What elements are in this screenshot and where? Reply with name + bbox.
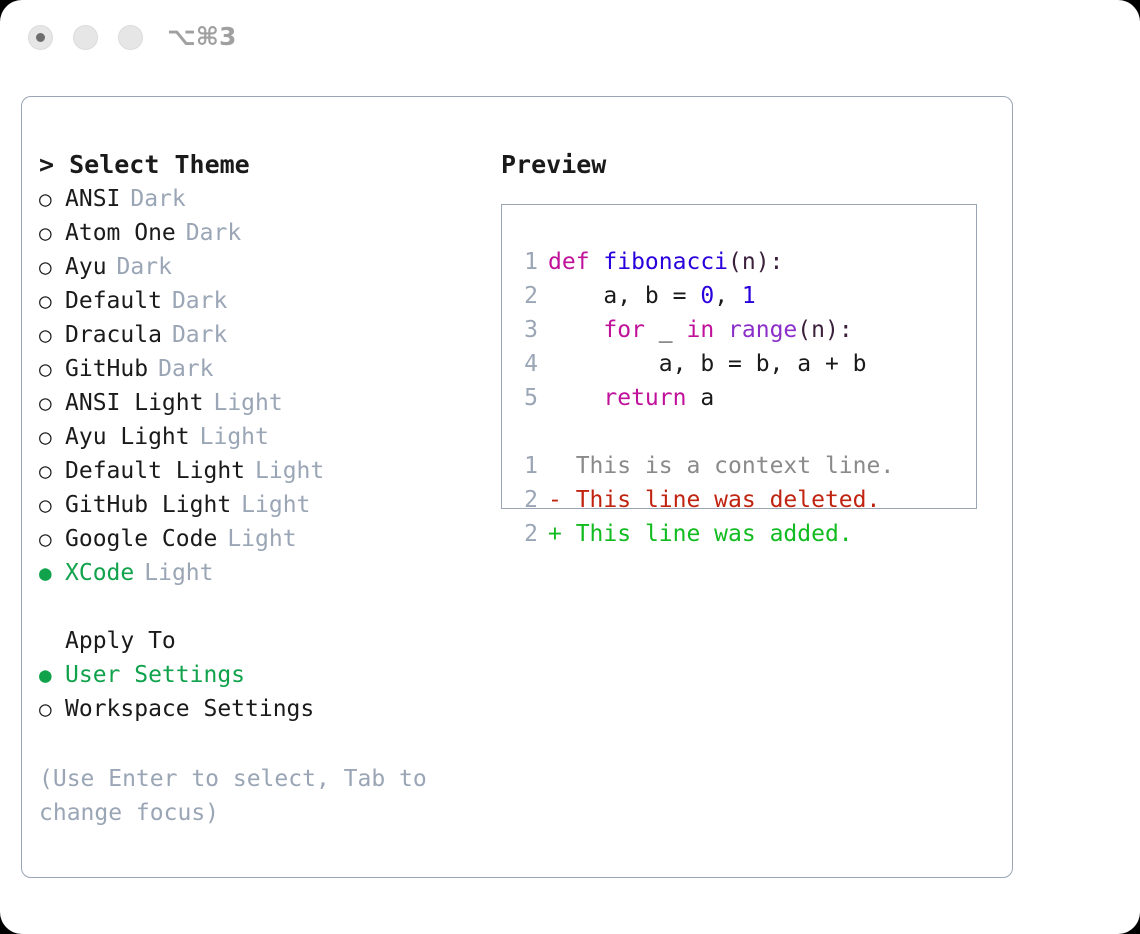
- theme-name: GitHub Light: [65, 488, 231, 522]
- code-token: fibonacci: [603, 249, 728, 275]
- code-token: def: [548, 249, 603, 275]
- theme-name: XCode: [65, 556, 134, 590]
- code-token: in: [686, 317, 714, 343]
- diff-line-text: This is a context line.: [562, 449, 894, 483]
- theme-list-item[interactable]: ○GitHubDark: [39, 352, 479, 386]
- diff-line: 2+ This line was added.: [502, 517, 976, 551]
- window-controls: [28, 25, 143, 50]
- window-dot-active-inner: [36, 33, 45, 42]
- apply-to-options: ●User Settings○Workspace Settings: [39, 658, 479, 726]
- code-diff-separator: [502, 415, 976, 449]
- radio-unselected-icon: ○: [39, 386, 65, 420]
- theme-category: Light: [227, 522, 296, 556]
- code-line: 1def fibonacci(n):: [502, 245, 976, 279]
- code-token: [548, 317, 603, 343]
- code-token: (n):: [728, 249, 783, 275]
- theme-name: Google Code: [65, 522, 217, 556]
- code-token: range: [728, 317, 797, 343]
- diff-sample: 1 This is a context line.2- This line wa…: [502, 449, 976, 551]
- theme-name: GitHub: [65, 352, 148, 386]
- theme-name: Default Light: [65, 454, 245, 488]
- apply-to-option[interactable]: ●User Settings: [39, 658, 479, 692]
- radio-unselected-icon: ○: [39, 216, 65, 250]
- theme-category: Dark: [172, 284, 227, 318]
- code-line: 2 a, b = 0, 1: [502, 279, 976, 313]
- code-sample: 1def fibonacci(n):2 a, b = 0, 13 for _ i…: [502, 245, 976, 415]
- apply-to-heading: Apply To: [39, 624, 479, 658]
- apply-to-option-label: Workspace Settings: [65, 692, 314, 726]
- code-line-number: 1: [502, 245, 548, 279]
- radio-unselected-icon: ○: [39, 318, 65, 352]
- code-line-content: a, b = 0, 1: [548, 279, 756, 313]
- code-token: [714, 317, 728, 343]
- preview-column: Preview 1def fibonacci(n):2 a, b = 0, 13…: [501, 148, 991, 509]
- code-line: 5 return a: [502, 381, 976, 415]
- radio-unselected-icon: ○: [39, 454, 65, 488]
- window-dot-second-icon[interactable]: [73, 25, 98, 50]
- theme-name: Atom One: [65, 216, 176, 250]
- radio-unselected-icon: ○: [39, 182, 65, 216]
- radio-selected-icon: ●: [39, 658, 65, 692]
- diff-sign: -: [548, 483, 562, 517]
- theme-list-item[interactable]: ○Default LightLight: [39, 454, 479, 488]
- keyboard-hint-text: (Use Enter to select, Tab to change focu…: [39, 762, 439, 830]
- theme-category: Dark: [130, 182, 185, 216]
- code-token: _: [645, 317, 687, 343]
- theme-name: ANSI: [65, 182, 120, 216]
- diff-line-number: 1: [502, 449, 548, 483]
- theme-picker-column: > Select Theme ○ANSIDark○Atom OneDark○Ay…: [39, 148, 479, 830]
- code-token: 0: [700, 283, 714, 309]
- window-dot-third-icon[interactable]: [118, 25, 143, 50]
- code-token: 1: [742, 283, 756, 309]
- theme-name: Ayu: [65, 250, 107, 284]
- panel-columns: > Select Theme ○ANSIDark○Atom OneDark○Ay…: [22, 97, 1012, 877]
- radio-unselected-icon: ○: [39, 488, 65, 522]
- theme-category: Dark: [186, 216, 241, 250]
- theme-category: Dark: [172, 318, 227, 352]
- theme-category: Light: [144, 556, 213, 590]
- diff-sign: [548, 449, 562, 483]
- radio-unselected-icon: ○: [39, 692, 65, 726]
- theme-list-item[interactable]: ○DefaultDark: [39, 284, 479, 318]
- theme-category: Dark: [158, 352, 213, 386]
- theme-category: Light: [241, 488, 310, 522]
- code-token: [548, 385, 603, 411]
- apply-to-option[interactable]: ○Workspace Settings: [39, 692, 479, 726]
- code-token: for: [603, 317, 645, 343]
- theme-list-item[interactable]: ●XCodeLight: [39, 556, 479, 590]
- code-token: (n):: [797, 317, 852, 343]
- radio-unselected-icon: ○: [39, 522, 65, 556]
- theme-category: Dark: [117, 250, 172, 284]
- window-dot-active-icon[interactable]: [28, 25, 53, 50]
- theme-name: ANSI Light: [65, 386, 203, 420]
- code-line-content: for _ in range(n):: [548, 313, 853, 347]
- code-line-number: 3: [502, 313, 548, 347]
- theme-name: Default: [65, 284, 162, 318]
- code-line-content: def fibonacci(n):: [548, 245, 783, 279]
- theme-list-item[interactable]: ○Atom OneDark: [39, 216, 479, 250]
- theme-list-item[interactable]: ○Ayu LightLight: [39, 420, 479, 454]
- diff-sign: +: [548, 517, 562, 551]
- code-token: ,: [714, 283, 742, 309]
- code-token: a, b =: [548, 283, 700, 309]
- code-line-content: a, b = b, a + b: [548, 347, 867, 381]
- theme-list-item[interactable]: ○ANSIDark: [39, 182, 479, 216]
- radio-unselected-icon: ○: [39, 250, 65, 284]
- diff-line-text: This line was added.: [562, 517, 853, 551]
- radio-selected-icon: ●: [39, 556, 65, 590]
- theme-name: Ayu Light: [65, 420, 190, 454]
- code-line-number: 5: [502, 381, 548, 415]
- theme-list-item[interactable]: ○AyuDark: [39, 250, 479, 284]
- code-token: a, b = b, a + b: [548, 351, 867, 377]
- code-token: return: [603, 385, 686, 411]
- theme-category: Light: [200, 420, 269, 454]
- diff-line-text: This line was deleted.: [562, 483, 881, 517]
- theme-list-item[interactable]: ○DraculaDark: [39, 318, 479, 352]
- theme-list-item[interactable]: ○Google CodeLight: [39, 522, 479, 556]
- apply-to-option-label: User Settings: [65, 658, 245, 692]
- theme-category: Light: [255, 454, 324, 488]
- code-token: a: [686, 385, 714, 411]
- code-line-number: 4: [502, 347, 548, 381]
- main-panel: > Select Theme ○ANSIDark○Atom OneDark○Ay…: [21, 96, 1013, 878]
- keyboard-shortcut-label: ⌥⌘3: [167, 22, 236, 51]
- preview-heading: Preview: [501, 148, 991, 182]
- title-bar: ⌥⌘3: [0, 0, 1140, 78]
- code-line-content: return a: [548, 381, 714, 415]
- radio-unselected-icon: ○: [39, 352, 65, 386]
- diff-line-number: 2: [502, 517, 548, 551]
- app-window: ⌥⌘3 > Select Theme ○ANSIDark○Atom OneDar…: [0, 0, 1140, 934]
- theme-list-item[interactable]: ○ANSI LightLight: [39, 386, 479, 420]
- theme-list: ○ANSIDark○Atom OneDark○AyuDark○DefaultDa…: [39, 182, 479, 590]
- radio-unselected-icon: ○: [39, 420, 65, 454]
- theme-name: Dracula: [65, 318, 162, 352]
- code-line-number: 2: [502, 279, 548, 313]
- diff-line: 2- This line was deleted.: [502, 483, 976, 517]
- select-theme-heading: > Select Theme: [39, 148, 479, 182]
- apply-to-spacer: [39, 590, 479, 624]
- theme-list-item[interactable]: ○GitHub LightLight: [39, 488, 479, 522]
- code-line: 4 a, b = b, a + b: [502, 347, 976, 381]
- diff-line-number: 2: [502, 483, 548, 517]
- diff-line: 1 This is a context line.: [502, 449, 976, 483]
- code-line: 3 for _ in range(n):: [502, 313, 976, 347]
- preview-box: 1def fibonacci(n):2 a, b = 0, 13 for _ i…: [501, 204, 977, 509]
- radio-unselected-icon: ○: [39, 284, 65, 318]
- theme-category: Light: [213, 386, 282, 420]
